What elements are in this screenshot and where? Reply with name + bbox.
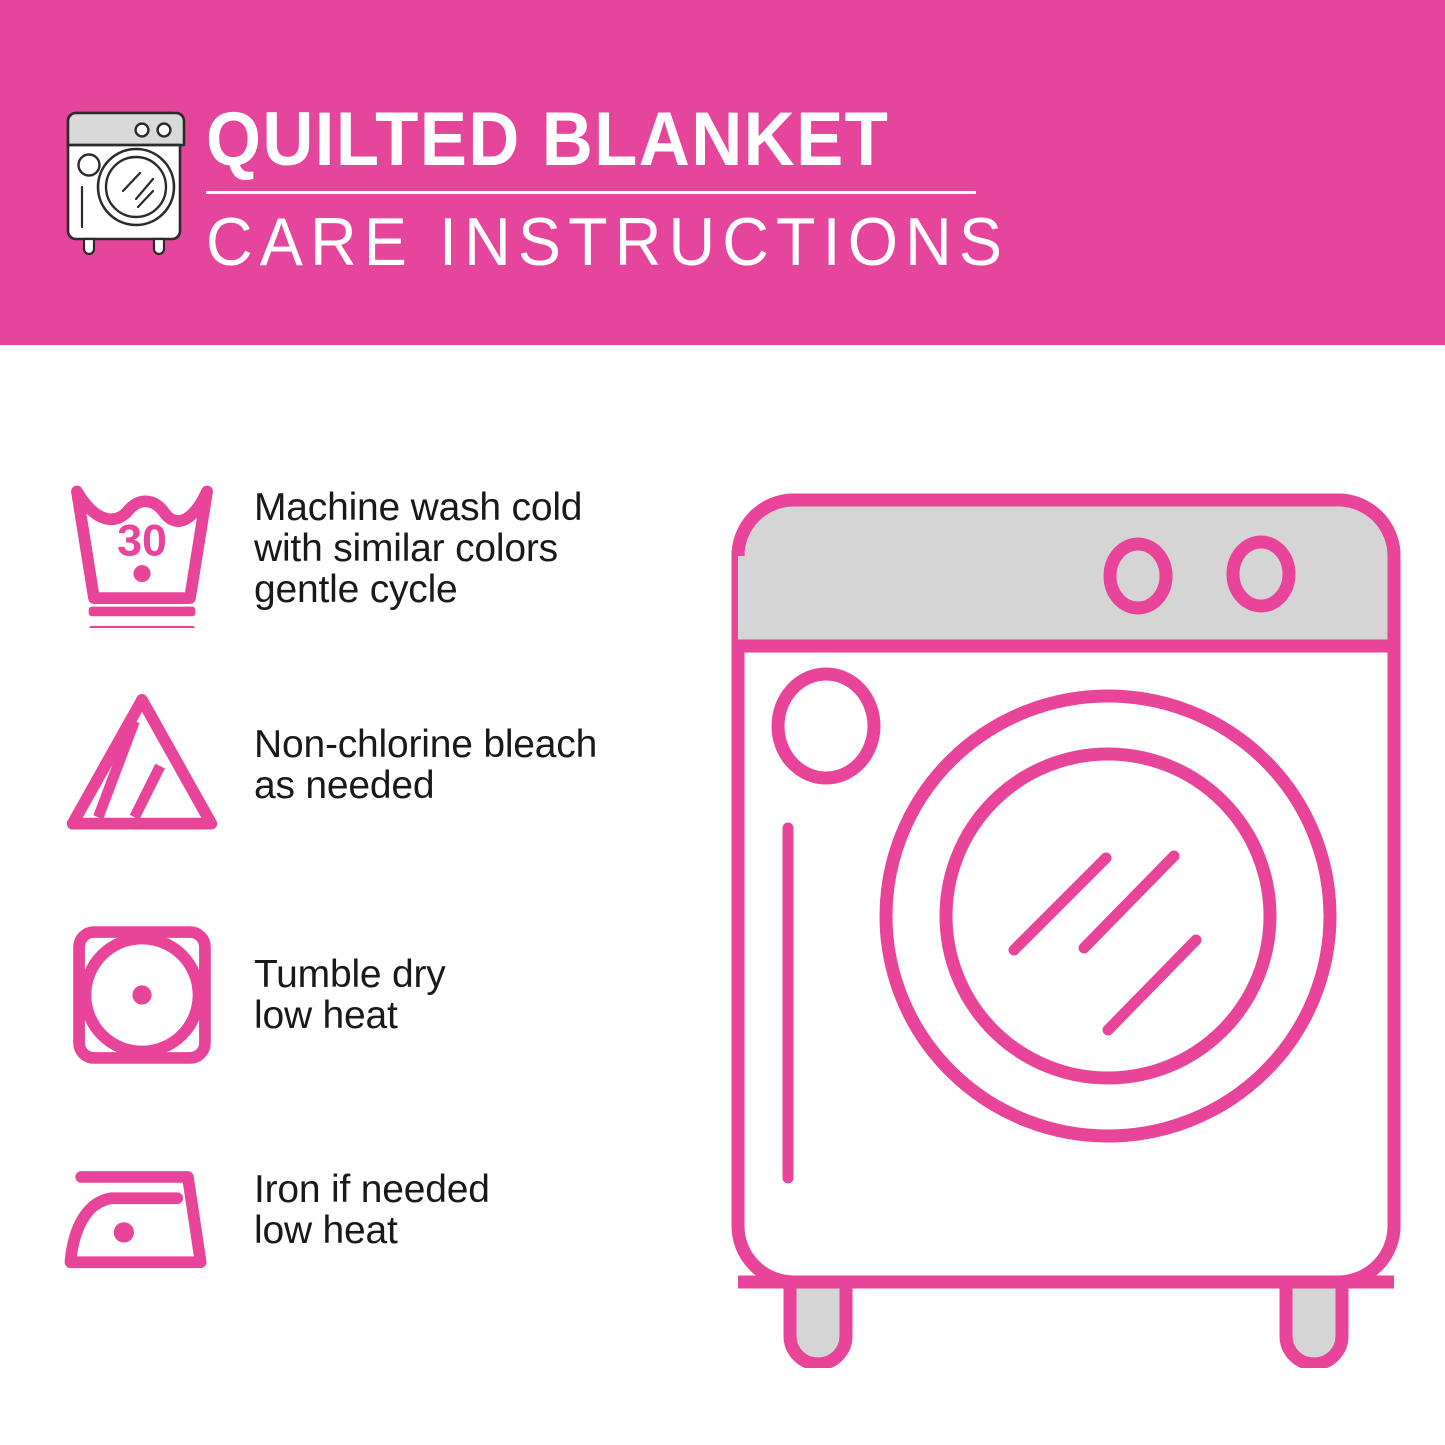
washing-machine-icon (62, 103, 190, 255)
header-band: QUILTED BLANKET CARE INSTRUCTIONS (0, 0, 1445, 345)
care-row-iron: Iron if needed low heat (0, 1130, 700, 1290)
leg-left (790, 1282, 846, 1364)
care-label-line: low heat (254, 995, 446, 1036)
care-label-line: Iron if needed (254, 1169, 490, 1210)
header-text-block: QUILTED BLANKET CARE INSTRUCTIONS (206, 98, 996, 280)
top-control-panel (738, 500, 1394, 646)
page-subtitle: CARE INSTRUCTIONS (206, 204, 957, 280)
care-label-line: gentle cycle (254, 569, 582, 610)
care-label-machine-wash: Machine wash cold with similar colors ge… (254, 487, 582, 610)
care-label-line: as needed (254, 765, 597, 806)
knob-left (1110, 544, 1166, 608)
care-label-line: low heat (254, 1210, 490, 1251)
iron-icon (62, 1130, 222, 1290)
wash-tub-icon: 30 (62, 468, 222, 628)
bleach-triangle-icon (62, 685, 222, 845)
care-label-tumble-dry: Tumble dry low heat (254, 954, 446, 1036)
care-label-line: Non-chlorine bleach (254, 724, 597, 765)
tumble-dry-icon (62, 915, 222, 1075)
page-title: QUILTED BLANKET (206, 98, 941, 182)
care-label-bleach: Non-chlorine bleach as needed (254, 724, 597, 806)
care-label-line: with similar colors (254, 528, 582, 569)
care-label-line: Tumble dry (254, 954, 446, 995)
care-row-tumble-dry: Tumble dry low heat (0, 915, 700, 1075)
care-instructions-page: QUILTED BLANKET CARE INSTRUCTIONS 30 Mac… (0, 0, 1445, 1445)
care-instruction-list: 30 Machine wash cold with similar colors… (0, 345, 700, 1445)
knob-right (1233, 542, 1289, 606)
svg-text:30: 30 (117, 515, 167, 565)
care-row-machine-wash: 30 Machine wash cold with similar colors… (0, 468, 700, 628)
title-divider (206, 191, 976, 194)
leg-right (1286, 1282, 1342, 1364)
care-row-bleach: Non-chlorine bleach as needed (0, 685, 700, 845)
care-label-iron: Iron if needed low heat (254, 1169, 490, 1251)
care-label-line: Machine wash cold (254, 487, 582, 528)
washing-machine-illustration (716, 478, 1416, 1368)
